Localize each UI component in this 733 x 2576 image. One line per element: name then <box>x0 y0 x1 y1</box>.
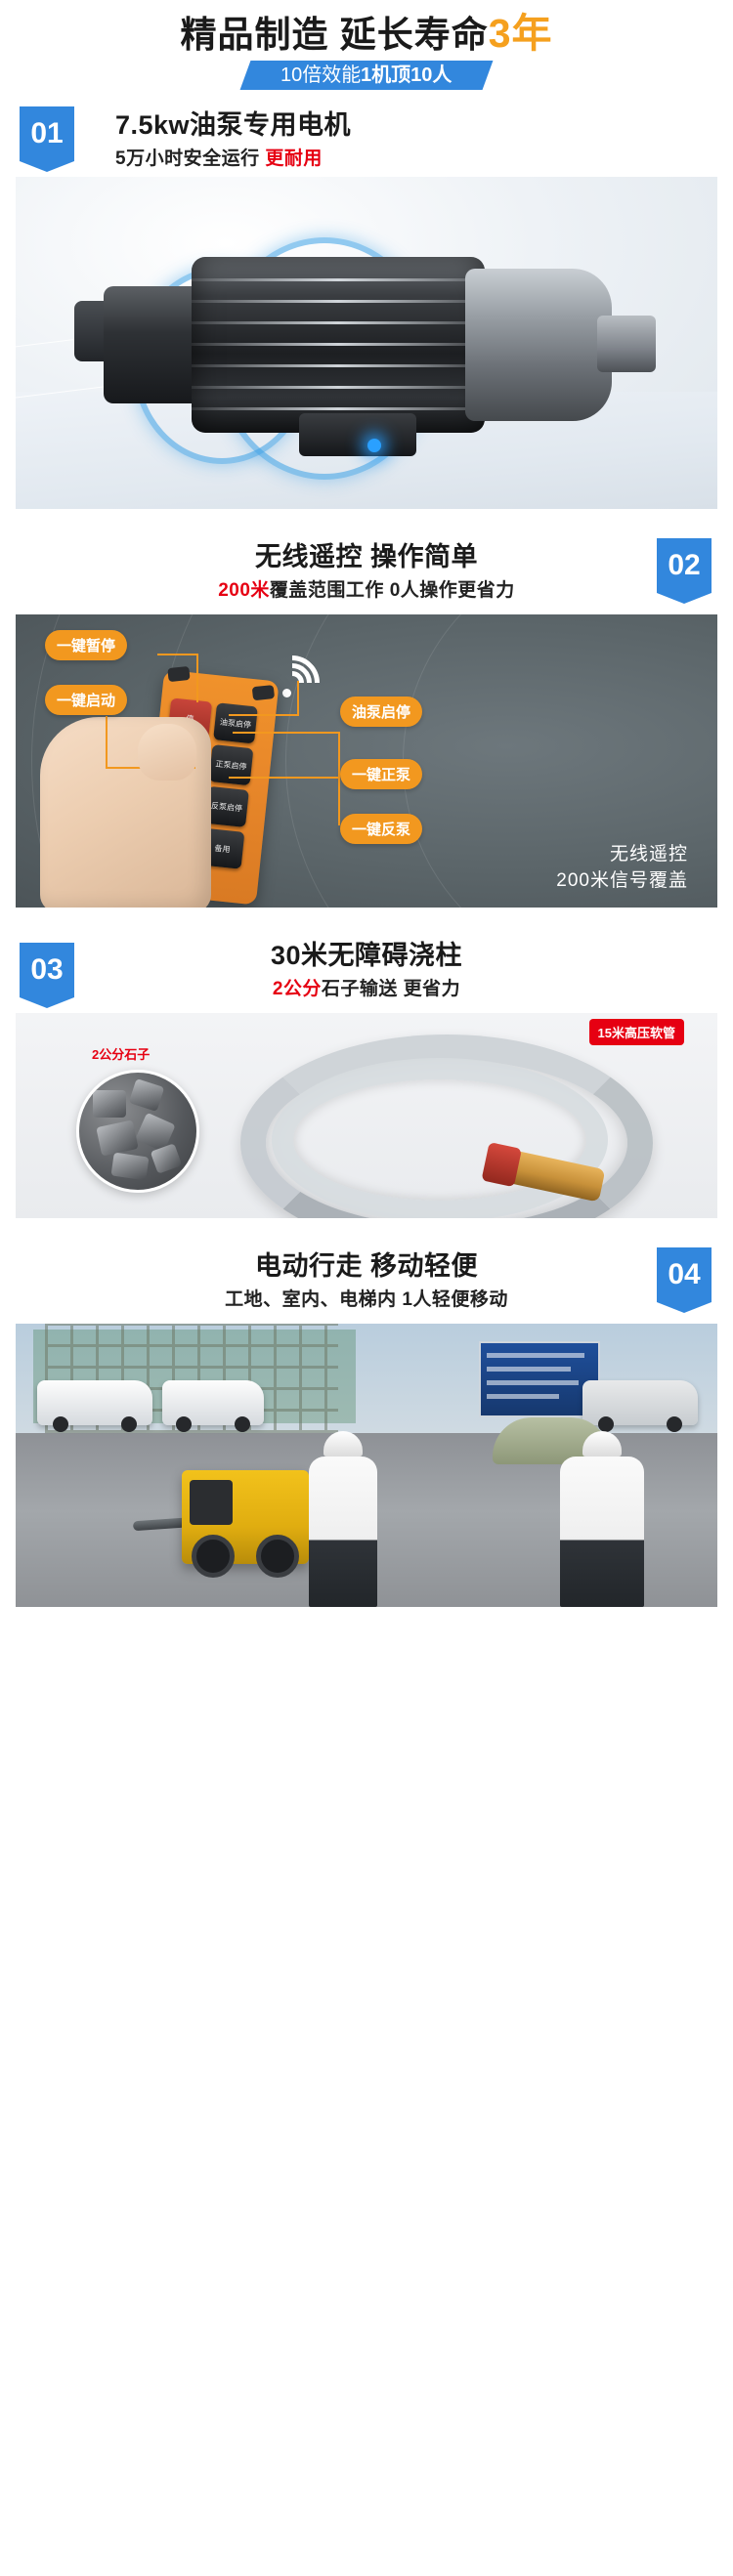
section-03-head: 03 30米无障碍浇柱 2公分石子输送 更省力 <box>0 929 733 1013</box>
hose-label: 15米高压软管 <box>589 1019 684 1045</box>
parked-car <box>162 1380 264 1425</box>
section-01-head: 01 7.5kw油泵专用电机 5万小时安全运行 更耐用 <box>0 93 733 177</box>
section-03-text: 30米无障碍浇柱 2公分石子输送 更省力 <box>0 939 733 1002</box>
parked-car <box>582 1380 698 1425</box>
section-04-text: 电动行走 移动轻便 工地、室内、电梯内 1人轻便移动 <box>0 1249 733 1313</box>
callout-pause: 一键暂停 <box>45 630 127 660</box>
section-03: 03 30米无障碍浇柱 2公分石子输送 更省力 15米高压软管 2公分石子 <box>0 929 733 1218</box>
section-02-title: 无线遥控 操作简单 <box>0 540 733 573</box>
thumb <box>138 724 196 781</box>
callout-leader-line <box>157 654 198 702</box>
section-01: 01 7.5kw油泵专用电机 5万小时安全运行 更耐用 <box>0 93 733 509</box>
section-04: 04 电动行走 移动轻便 工地、室内、电梯内 1人轻便移动 <box>0 1240 733 1607</box>
callout-start: 一键启动 <box>45 685 127 715</box>
remote-footer-line-1: 无线遥控 <box>556 841 688 867</box>
section-04-title: 电动行走 移动轻便 <box>0 1249 733 1283</box>
section-divider <box>0 1218 733 1240</box>
banner-ribbon: 10倍效能 1机顶10人 <box>240 61 494 90</box>
hose-photo: 15米高压软管 2公分石子 <box>16 1013 717 1218</box>
top-banner: 精品制造 延长寿命3年 10倍效能 1机顶10人 <box>0 0 733 93</box>
motor-terminal-box <box>299 413 416 456</box>
section-01-sub-normal: 5万小时安全运行 <box>115 148 265 169</box>
callout-pump-toggle: 油泵启停 <box>340 697 422 727</box>
section-03-subtitle: 2公分石子输送 更省力 <box>0 977 733 1002</box>
machine-control-panel <box>190 1480 233 1525</box>
machine-wheel <box>192 1535 235 1578</box>
section-01-subtitle: 5万小时安全运行 更耐用 <box>115 147 351 172</box>
callout-leader-line <box>229 777 340 825</box>
machine-wheel <box>256 1535 299 1578</box>
stone-label: 2公分石子 <box>92 1044 150 1063</box>
section-01-sub-red: 更耐用 <box>265 148 323 169</box>
callout-forward: 一键正泵 <box>340 759 422 789</box>
parked-car <box>37 1380 152 1425</box>
motor-cooling-fins <box>192 257 485 433</box>
high-pressure-hose-inner <box>272 1058 608 1218</box>
section-01-title: 7.5kw油泵专用电机 <box>115 108 351 142</box>
section-02-subtitle: 200米覆盖范围工作 0人操作更省力 <box>0 578 733 604</box>
motor-front-cover <box>465 269 612 421</box>
motor-body <box>192 257 485 433</box>
motor-led-glow <box>367 439 381 452</box>
section-02-text: 无线遥控 操作简单 200米覆盖范围工作 0人操作更省力 <box>0 540 733 604</box>
remote-photo-footer: 无线遥控 200米信号覆盖 <box>556 841 688 894</box>
section-03-sub-red: 2公分 <box>273 979 322 999</box>
remote-photo: 停 油泵启停 启动 正泵启停 备用 反泵启停 备用 备用 一键暂停 <box>16 614 717 908</box>
motor-photo <box>16 177 717 509</box>
callout-leader-line <box>233 732 340 781</box>
section-03-title: 30米无障碍浇柱 <box>0 939 733 972</box>
hose-coupler-cap <box>481 1142 522 1187</box>
section-04-subtitle: 工地、室内、电梯内 1人轻便移动 <box>0 1288 733 1313</box>
section-02-head: 02 无线遥控 操作简单 200米覆盖范围工作 0人操作更省力 <box>0 530 733 614</box>
section-04-head: 04 电动行走 移动轻便 工地、室内、电梯内 1人轻便移动 <box>0 1240 733 1324</box>
section-divider <box>0 509 733 530</box>
page-title-main: 精品制造 延长寿命 <box>180 15 488 55</box>
banner-ribbon-bold: 1机顶10人 <box>361 61 452 90</box>
section-01-badge: 01 <box>20 106 74 161</box>
section-02-sub-normal: 覆盖范围工作 0人操作更省力 <box>270 580 515 601</box>
gravel-sample <box>76 1070 199 1193</box>
section-01-text: 7.5kw油泵专用电机 5万小时安全运行 更耐用 <box>115 108 351 172</box>
page-title: 精品制造 延长寿命3年 <box>0 12 733 57</box>
worker-person <box>560 1457 644 1607</box>
callout-reverse: 一键反泵 <box>340 814 422 844</box>
section-divider <box>0 908 733 929</box>
page-title-accent: 3年 <box>489 11 553 56</box>
callout-leader-line <box>229 681 299 716</box>
concrete-pump-machine <box>182 1470 309 1564</box>
motor-illustration <box>74 247 661 443</box>
section-02-sub-red: 200米 <box>218 580 270 601</box>
product-detail-page: 精品制造 延长寿命3年 10倍效能 1机顶10人 01 7.5kw油泵专用电机 … <box>0 0 733 1607</box>
section-02: 02 无线遥控 操作简单 200米覆盖范围工作 0人操作更省力 停 <box>0 530 733 908</box>
section-04-sub-bold: 1人轻便移动 <box>402 1289 508 1310</box>
remote-footer-line-2: 200米信号覆盖 <box>556 867 688 894</box>
section-03-sub-normal: 石子输送 更省力 <box>322 979 460 999</box>
motor-shaft <box>597 316 656 372</box>
worksite-photo <box>16 1324 717 1607</box>
banner-ribbon-wrap: 10倍效能 1机顶10人 <box>0 61 733 90</box>
banner-ribbon-normal: 10倍效能 <box>280 61 361 90</box>
section-04-sub-normal: 工地、室内、电梯内 <box>225 1289 402 1310</box>
worker-person <box>309 1457 377 1607</box>
